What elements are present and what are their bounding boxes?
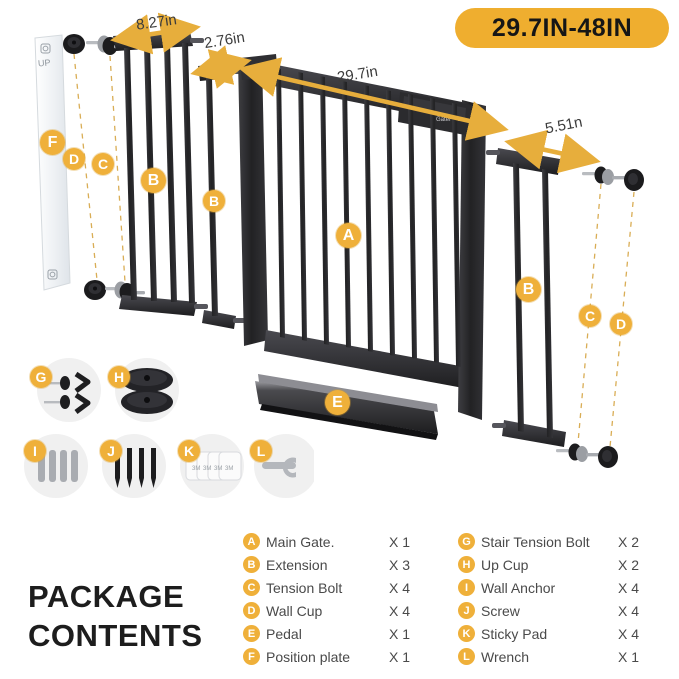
callout-badge-B-right: B xyxy=(516,277,541,302)
legend-part-qty: X 4 xyxy=(389,580,410,596)
callout-badge-F: F xyxy=(40,130,65,155)
package-title-line1: PACKAGE xyxy=(28,578,203,617)
legend-badge-L: L xyxy=(458,648,475,665)
legend-column-right: GStair Tension BoltX 2HUp CupX 2IWall An… xyxy=(458,530,673,668)
wall-cup-top-left xyxy=(63,34,85,54)
thumbnail-badge-L: L xyxy=(250,440,272,462)
legend-column-left: AMain Gate.X 1BExtensionX 3CTension Bolt… xyxy=(243,530,453,668)
thumbnail-badge-J: J xyxy=(100,440,122,462)
legend-part-name: Up Cup xyxy=(481,557,528,573)
legend-badge-E: E xyxy=(243,625,260,642)
svg-text:3M: 3M xyxy=(203,466,211,472)
legend-row: IWall AnchorX 4 xyxy=(458,576,673,599)
legend-row: DWall CupX 4 xyxy=(243,599,453,622)
legend-row: LWrenchX 1 xyxy=(458,645,673,668)
callout-badge-D-right: D xyxy=(610,313,632,335)
thumbnail-badge-H: H xyxy=(108,366,130,388)
legend-part-qty: X 4 xyxy=(618,603,639,619)
legend-badge-B: B xyxy=(243,556,260,573)
legend-row: FPosition plateX 1 xyxy=(243,645,453,668)
legend-badge-K: K xyxy=(458,625,475,642)
thumbnail-badge-K: K xyxy=(178,440,200,462)
wall-cup-bottom-right xyxy=(598,446,618,468)
package-contents-title: PACKAGE CONTENTS xyxy=(28,578,203,656)
svg-text:3M: 3M xyxy=(225,466,233,472)
legend-part-qty: X 1 xyxy=(389,626,410,642)
legend-badge-D: D xyxy=(243,602,260,619)
wall-cup-top-right xyxy=(624,169,644,191)
legend-part-name: Sticky Pad xyxy=(481,626,547,642)
wall-cup-bottom-left xyxy=(84,280,106,300)
legend-part-name: Wrench xyxy=(481,649,529,665)
legend-row: JScrewX 4 xyxy=(458,599,673,622)
callout-badge-B-mid: B xyxy=(203,190,225,212)
legend-part-qty: X 1 xyxy=(389,534,410,550)
legend-part-qty: X 4 xyxy=(389,603,410,619)
legend-badge-J: J xyxy=(458,602,475,619)
legend-part-name: Position plate xyxy=(266,649,350,665)
legend-part-qty: X 4 xyxy=(618,626,639,642)
callout-badge-B-left: B xyxy=(141,168,166,193)
svg-text:3M: 3M xyxy=(192,466,200,472)
legend-badge-C: C xyxy=(243,579,260,596)
callout-badge-C-right: C xyxy=(579,305,601,327)
legend-part-qty: X 1 xyxy=(389,649,410,665)
thumbnail-badge-I: I xyxy=(24,440,46,462)
package-title-line2: CONTENTS xyxy=(28,617,203,656)
legend-part-name: Main Gate. xyxy=(266,534,334,550)
legend-part-name: Stair Tension Bolt xyxy=(481,534,590,550)
legend-part-qty: X 2 xyxy=(618,557,639,573)
callout-badge-A: A xyxy=(336,223,361,248)
legend-row: GStair Tension BoltX 2 xyxy=(458,530,673,553)
legend-badge-G: G xyxy=(458,533,475,550)
legend-part-qty: X 1 xyxy=(618,649,639,665)
callout-badge-C-left: C xyxy=(92,153,114,175)
legend-part-qty: X 3 xyxy=(389,557,410,573)
legend-part-name: Pedal xyxy=(266,626,302,642)
legend-part-name: Tension Bolt xyxy=(266,580,342,596)
legend-part-name: Extension xyxy=(266,557,327,573)
legend-badge-A: A xyxy=(243,533,260,550)
legend-part-qty: X 2 xyxy=(618,534,639,550)
legend-row: CTension BoltX 4 xyxy=(243,576,453,599)
legend-row: KSticky PadX 4 xyxy=(458,622,673,645)
legend-part-qty: X 4 xyxy=(618,580,639,596)
legend-part-name: Screw xyxy=(481,603,520,619)
legend-part-name: Wall Anchor xyxy=(481,580,555,596)
svg-text:3M: 3M xyxy=(214,466,222,472)
legend-row: BExtensionX 3 xyxy=(243,553,453,576)
legend-part-name: Wall Cup xyxy=(266,603,322,619)
tension-bolt-top-right xyxy=(582,167,626,186)
legend-badge-I: I xyxy=(458,579,475,596)
legend-row: HUp CupX 2 xyxy=(458,553,673,576)
legend-row: AMain Gate.X 1 xyxy=(243,530,453,553)
callout-badge-E: E xyxy=(325,390,350,415)
legend-badge-F: F xyxy=(243,648,260,665)
legend-badge-H: H xyxy=(458,556,475,573)
legend-row: EPedalX 1 xyxy=(243,622,453,645)
parts-thumbnail-row: 3M3M 3M3M xyxy=(14,358,314,498)
callout-badge-D-left: D xyxy=(63,148,85,170)
position-plate-up-label: UP xyxy=(38,57,51,68)
thumbnail-badge-G: G xyxy=(30,366,52,388)
